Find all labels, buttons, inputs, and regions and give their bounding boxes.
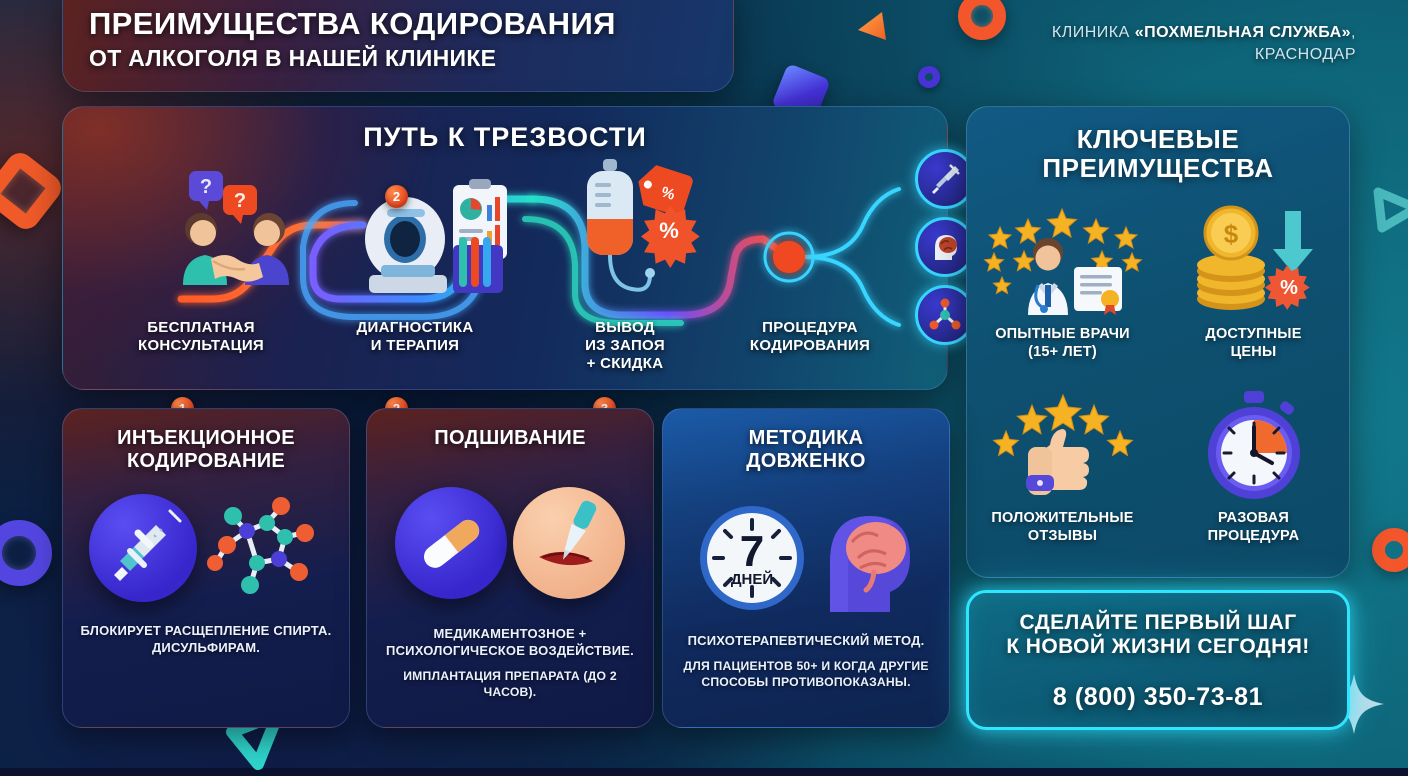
benefit-caption-reviews: ПОЛОЖИТЕЛЬНЫЕ ОТЗЫВЫ (991, 510, 1133, 545)
clock-number: 7 (740, 527, 764, 576)
card3-title-line2: ДОВЖЕНКО (746, 450, 866, 472)
head-brain-icon (928, 230, 962, 264)
step-badge-2-top: 2 (385, 185, 408, 208)
step-label-1-line1: БЕСПЛАТНАЯ (91, 319, 311, 337)
clock-7-days-icon: 7 ДНЕЙ (694, 500, 810, 616)
benefits-title-line1: КЛЮЧЕВЫЕ (1077, 124, 1240, 154)
svg-text:?: ? (200, 176, 212, 198)
implant-incision-icon (513, 487, 625, 599)
card1-text1: БЛОКИРУЕТ РАСЩЕПЛЕНИЕ СПИРТА. ДИСУЛЬФИРА… (77, 623, 335, 657)
benefit-caption-single-line2: ПРОЦЕДУРА (1208, 528, 1300, 545)
step-label-1: БЕСПЛАТНАЯ КОНСУЛЬТАЦИЯ (91, 319, 311, 355)
card2-text2: ИМПЛАНТАЦИЯ ПРЕПАРАТА (ДО 2 ЧАСОВ). (381, 669, 639, 701)
benefit-item-doctors: ОПЫТНЫЕ ВРАЧИ (15+ ЛЕТ) (967, 200, 1158, 384)
cta-line1: СДЕЛАЙТЕ ПЕРВЫЙ ШАГ (969, 611, 1347, 635)
clinic-brand: «ПОХМЕЛЬНАЯ СЛУЖБА» (1135, 24, 1351, 41)
card3-title: МЕТОДИКА ДОВЖЕНКО (663, 427, 949, 473)
journey-panel: ПУТЬ К ТРЕЗВОСТИ (62, 106, 948, 390)
handshake-people-icon: ? ? (161, 167, 311, 307)
benefit-caption-reviews-line2: ОТЗЫВЫ (991, 528, 1133, 545)
benefit-caption-single-line1: РАЗОВАЯ (1208, 510, 1300, 527)
syringe-circle-icon (89, 494, 197, 602)
card2-art (367, 468, 653, 618)
step-label-2-line2: И ТЕРАПИЯ (315, 337, 515, 355)
benefits-title-line2: ПРЕИМУЩЕСТВА (1042, 153, 1273, 183)
page-title-panel: ПРЕИМУЩЕСТВА КОДИРОВАНИЯ ОТ АЛКОГОЛЯ В Н… (62, 0, 734, 92)
benefit-item-reviews: ПОЛОЖИТЕЛЬНЫЕ ОТЗЫВЫ (967, 384, 1158, 568)
svg-text:%: % (659, 218, 679, 243)
clinic-prefix: КЛИНИКА (1052, 24, 1135, 41)
card3-art: 7 ДНЕЙ (663, 483, 949, 633)
card2-title: ПОДШИВАНИЕ (367, 427, 653, 450)
step-label-2: ДИАГНОСТИКА И ТЕРАПИЯ (315, 319, 515, 355)
step-label-2-line1: ДИАГНОСТИКА (315, 319, 515, 337)
cta-line2: К НОВОЙ ЖИЗНИ СЕГОДНЯ! (969, 635, 1347, 659)
coins-discount-icon: $ % (1189, 204, 1319, 322)
step-number-2-top: 2 (393, 189, 400, 204)
stopwatch-icon (1196, 388, 1312, 506)
benefit-item-prices: $ % ДОСТУПНЫЕ ЦЕНЫ (1158, 200, 1349, 384)
card1-body: БЛОКИРУЕТ РАСЩЕПЛЕНИЕ СПИРТА. ДИСУЛЬФИРА… (63, 623, 349, 657)
card1-title-line1: ИНЪЕКЦИОННОЕ (117, 427, 295, 449)
card1-title: ИНЪЕКЦИОННОЕ КОДИРОВАНИЕ (63, 427, 349, 473)
card2-title-line1: ПОДШИВАНИЕ (434, 427, 585, 449)
svg-text:%: % (1280, 277, 1298, 299)
card3-text2: ДЛЯ ПАЦИЕНТОВ 50+ И КОГДА ДРУГИЕ СПОСОБЫ… (677, 659, 935, 691)
step-label-4: ПРОЦЕДУРА КОДИРОВАНИЯ (715, 319, 905, 355)
benefit-item-single-procedure: РАЗОВАЯ ПРОЦЕДУРА (1158, 384, 1349, 568)
card2-body: МЕДИКАМЕНТОЗНОЕ + ПСИХОЛОГИЧЕСКОЕ ВОЗДЕЙ… (367, 626, 653, 701)
step-label-1-line2: КОНСУЛЬТАЦИЯ (91, 337, 311, 355)
page-title-line1: ПРЕИМУЩЕСТВА КОДИРОВАНИЯ (89, 8, 733, 41)
clinic-name: КЛИНИКА «ПОХМЕЛЬНАЯ СЛУЖБА», КРАСНОДАР (1026, 22, 1356, 65)
cta-panel[interactable]: СДЕЛАЙТЕ ПЕРВЫЙ ШАГ К НОВОЙ ЖИЗНИ СЕГОДН… (966, 590, 1350, 730)
clock-unit: ДНЕЙ (731, 570, 773, 588)
capsule-icon (409, 501, 493, 585)
benefit-caption-doctors-line1: ОПЫТНЫЕ ВРАЧИ (995, 326, 1130, 343)
step-label-3-line2: ИЗ ЗАПОЯ (535, 337, 715, 355)
capsule-circle-icon (395, 487, 507, 599)
benefit-caption-reviews-line1: ПОЛОЖИТЕЛЬНЫЕ (991, 510, 1133, 527)
method-card-implant: ПОДШИВАНИЕ МЕДИК (366, 408, 654, 728)
benefit-caption-prices: ДОСТУПНЫЕ ЦЕНЫ (1205, 326, 1301, 361)
card3-title-line1: МЕТОДИКА (749, 427, 864, 449)
scalpel-incision-icon (521, 495, 617, 591)
step-label-4-line2: КОДИРОВАНИЯ (715, 337, 905, 355)
benefits-title: КЛЮЧЕВЫЕ ПРЕИМУЩЕСТВА (967, 125, 1349, 182)
step-label-4-line1: ПРОЦЕДУРА (715, 319, 905, 337)
benefits-panel: КЛЮЧЕВЫЕ ПРЕИМУЩЕСТВА (966, 106, 1350, 578)
step-label-3-line3: + СКИДКА (535, 355, 715, 373)
page-title-line2: ОТ АЛКОГОЛЯ В НАШЕЙ КЛИНИКЕ (89, 45, 733, 72)
thumbs-up-stars-icon (988, 388, 1138, 506)
syringe-icon (100, 505, 186, 591)
method-card-dovzhenko: МЕТОДИКА ДОВЖЕНКО 7 ДНЕЙ (662, 408, 950, 728)
syringe-icon (928, 162, 962, 196)
method-card-injection: ИНЪЕКЦИОННОЕ КОДИРОВАНИЕ (62, 408, 350, 728)
card3-body: ПСИХОТЕРАПЕВТИЧЕСКИЙ МЕТОД. ДЛЯ ПАЦИЕНТО… (663, 633, 949, 691)
benefit-caption-prices-line1: ДОСТУПНЫЕ (1205, 326, 1301, 343)
molecule-icon (203, 493, 323, 603)
benefit-caption-doctors-line2: (15+ ЛЕТ) (995, 344, 1130, 361)
benefit-caption-single-procedure: РАЗОВАЯ ПРОЦЕДУРА (1208, 510, 1300, 545)
head-brain-icon (814, 500, 918, 616)
benefit-caption-doctors: ОПЫТНЫЕ ВРАЧИ (15+ ЛЕТ) (995, 326, 1130, 361)
svg-text:$: $ (1223, 219, 1238, 249)
doctor-stars-certificate-icon (980, 204, 1146, 322)
step-label-3: ВЫВОД ИЗ ЗАПОЯ + СКИДКА (535, 319, 715, 373)
cta-phone[interactable]: 8 (800) 350-73-81 (969, 683, 1347, 712)
step-label-3-line1: ВЫВОД (535, 319, 715, 337)
card3-text1: ПСИХОТЕРАПЕВТИЧЕСКИЙ МЕТОД. (677, 633, 935, 650)
molecule-icon (927, 297, 963, 333)
iv-drip-discount-icon: % % (563, 157, 713, 307)
card1-art (63, 473, 349, 623)
benefits-grid: ОПЫТНЫЕ ВРАЧИ (15+ ЛЕТ) (967, 200, 1349, 568)
svg-text:?: ? (234, 190, 246, 212)
card2-text1: МЕДИКАМЕНТОЗНОЕ + ПСИХОЛОГИЧЕСКОЕ ВОЗДЕЙ… (381, 626, 639, 660)
benefit-caption-prices-line2: ЦЕНЫ (1205, 344, 1301, 361)
card1-title-line2: КОДИРОВАНИЕ (127, 450, 285, 472)
